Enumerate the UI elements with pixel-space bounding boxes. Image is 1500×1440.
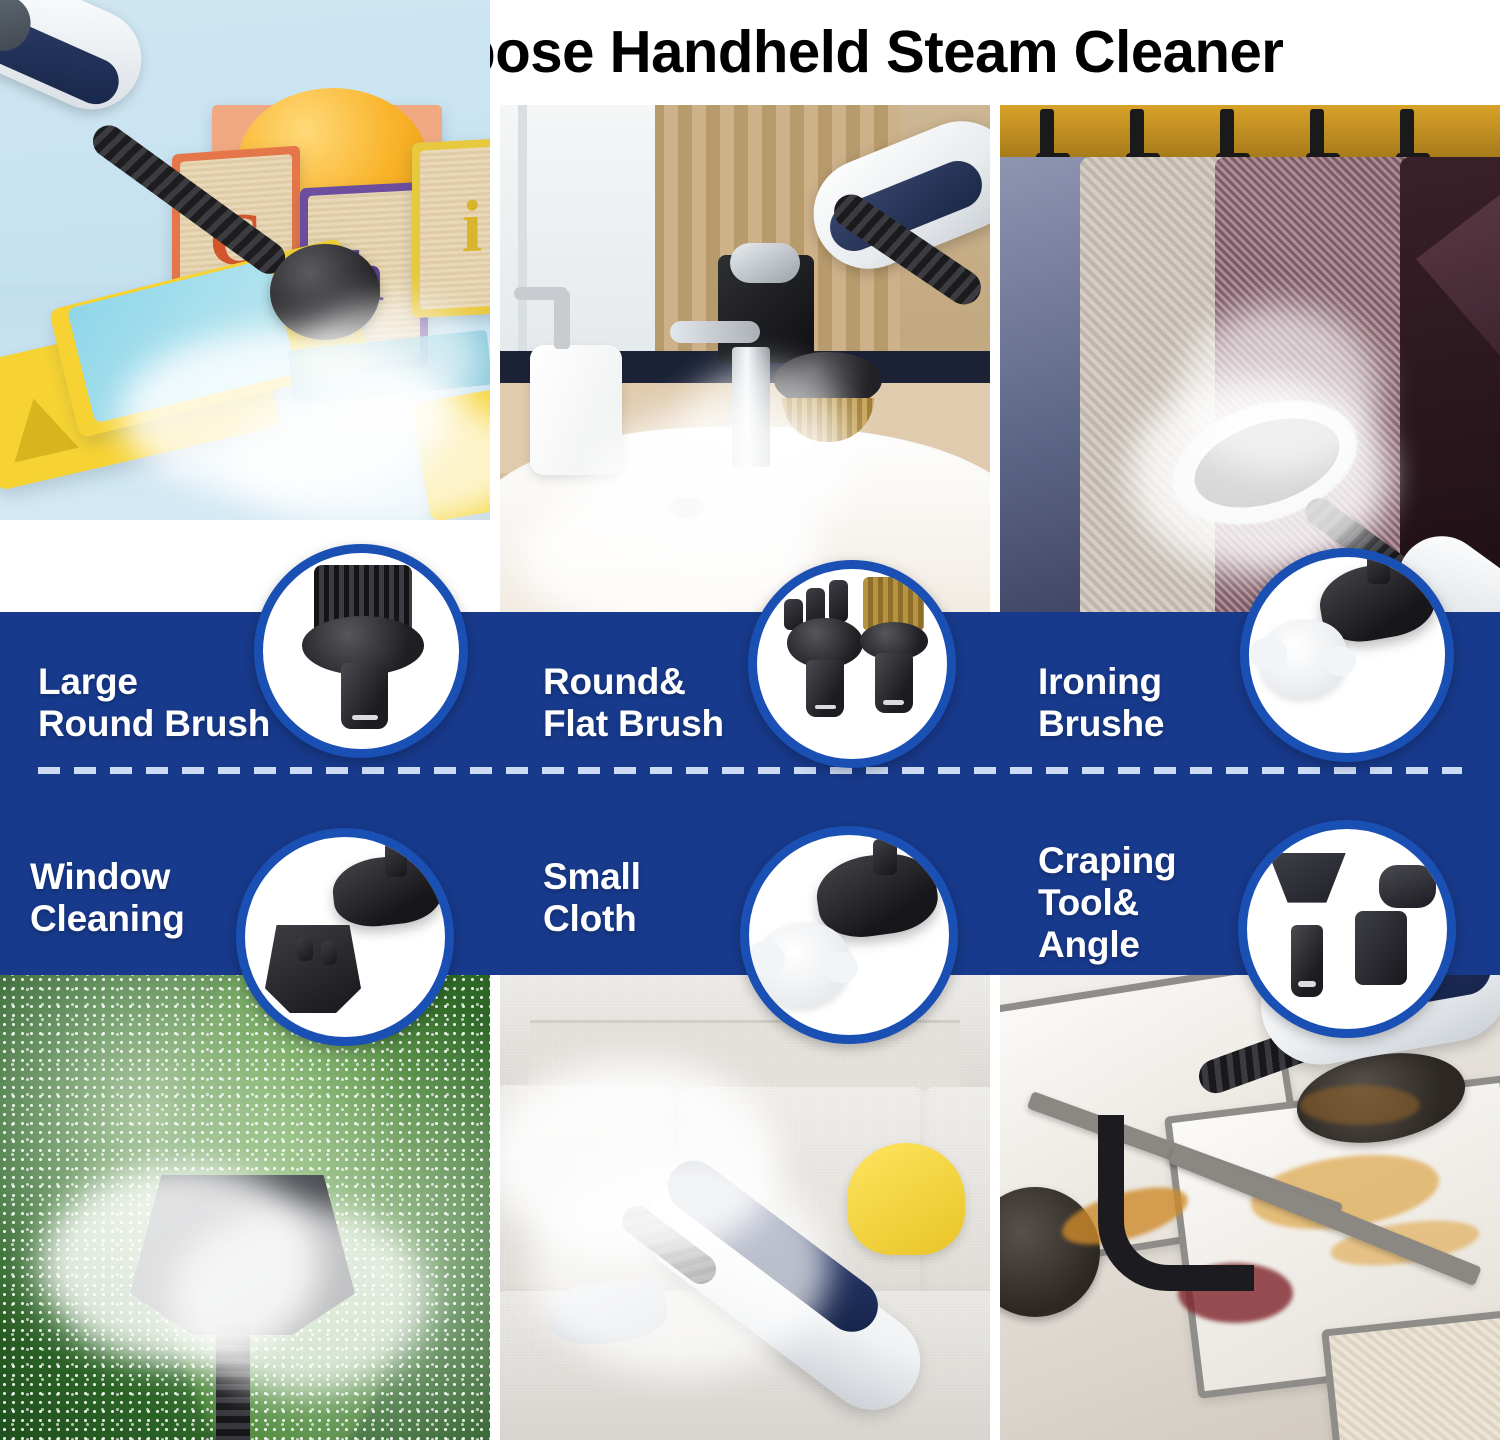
window-glass-photo (0, 975, 490, 1440)
feature-label: Ironing Brushe (1038, 661, 1164, 745)
flat-and-brass-brush-icon (748, 560, 956, 768)
sofa-upholstery-photo (500, 975, 990, 1440)
feature-label: Small Cloth (543, 856, 641, 940)
dashed-divider (38, 767, 1462, 774)
garment-rack-photo (1000, 105, 1500, 625)
feature-label: Round& Flat Brush (543, 661, 724, 745)
bathroom-sink-photo (500, 105, 990, 625)
feature-label: Window Cleaning (30, 856, 185, 940)
small-cloth-icon (740, 826, 958, 1044)
scraper-and-angle-nozzle-icon (1238, 820, 1456, 1038)
product-infographic: Multi Purpose Handheld Steam Cleaner C h… (0, 0, 1500, 1440)
feature-label: Large Round Brush (38, 661, 270, 745)
gas-stove-photo (1000, 975, 1500, 1440)
feature-label: Craping Tool& Angle (1038, 840, 1176, 967)
feature-large-round-brush[interactable]: Large Round Brush (38, 638, 288, 768)
toy-blocks-photo: C h i (0, 0, 490, 520)
round-brush-icon (254, 544, 468, 758)
ironing-brush-icon (1240, 548, 1454, 762)
window-squeegee-icon (236, 828, 454, 1046)
